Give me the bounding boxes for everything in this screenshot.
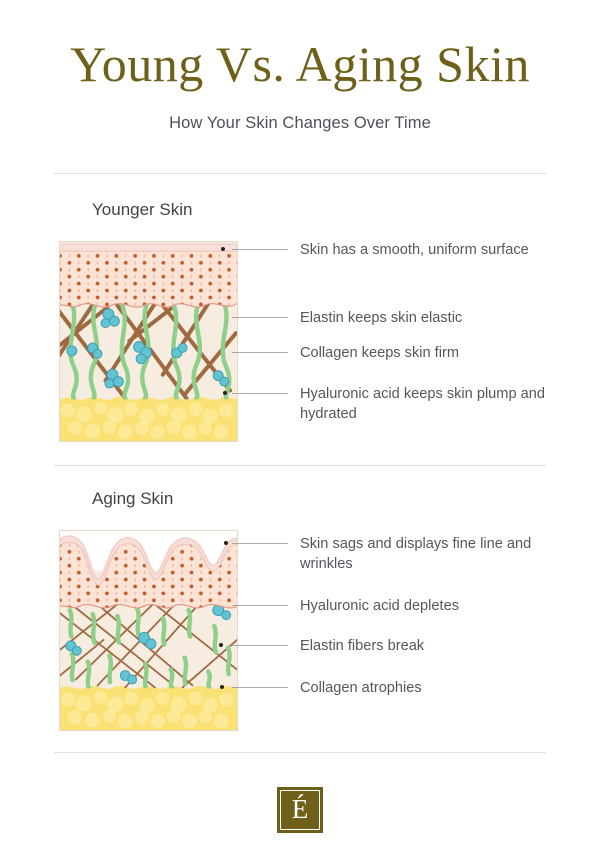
- leader-line: [232, 352, 288, 353]
- callout-marker-young-4: [223, 391, 227, 395]
- skin-diagram-aging: [59, 530, 238, 731]
- divider-top: [55, 173, 545, 175]
- section-heading-younger-skin: Younger Skin: [92, 200, 193, 220]
- page-subtitle: How Your Skin Changes Over Time: [0, 114, 600, 133]
- leader-line: [232, 645, 288, 646]
- leader-line: [232, 393, 288, 394]
- callout-marker-aging-3: [219, 643, 223, 647]
- callout-label: Skin has a smooth, uniform surface: [300, 241, 570, 261]
- leader-line: [232, 249, 288, 250]
- leader-line: [232, 317, 288, 318]
- callout-label: Collagen atrophies: [300, 679, 570, 699]
- leader-line: [232, 543, 288, 544]
- brand-logo-letter: É: [280, 790, 320, 830]
- divider-bottom: [55, 752, 545, 754]
- callout-marker-aging-1: [224, 541, 228, 545]
- callout-label: Collagen keeps skin firm: [300, 344, 570, 364]
- callout-label: Elastin fibers break: [300, 637, 570, 657]
- page-title: Young Vs. Aging Skin: [0, 38, 600, 91]
- leader-line: [232, 605, 288, 606]
- leader-line: [232, 687, 288, 688]
- callout-label: Hyaluronic acid keeps skin plump and hyd…: [300, 385, 570, 424]
- brand-logo: É: [277, 787, 323, 833]
- callout-marker-aging-4: [220, 685, 224, 689]
- section-heading-aging-skin: Aging Skin: [92, 489, 173, 509]
- callout-label: Hyaluronic acid depletes: [300, 597, 570, 617]
- skin-diagram-younger: [59, 241, 238, 442]
- callout-marker-young-1: [221, 247, 225, 251]
- callout-label: Skin sags and displays fine line and wri…: [300, 535, 570, 574]
- callout-label: Elastin keeps skin elastic: [300, 309, 570, 329]
- divider-middle: [55, 465, 545, 467]
